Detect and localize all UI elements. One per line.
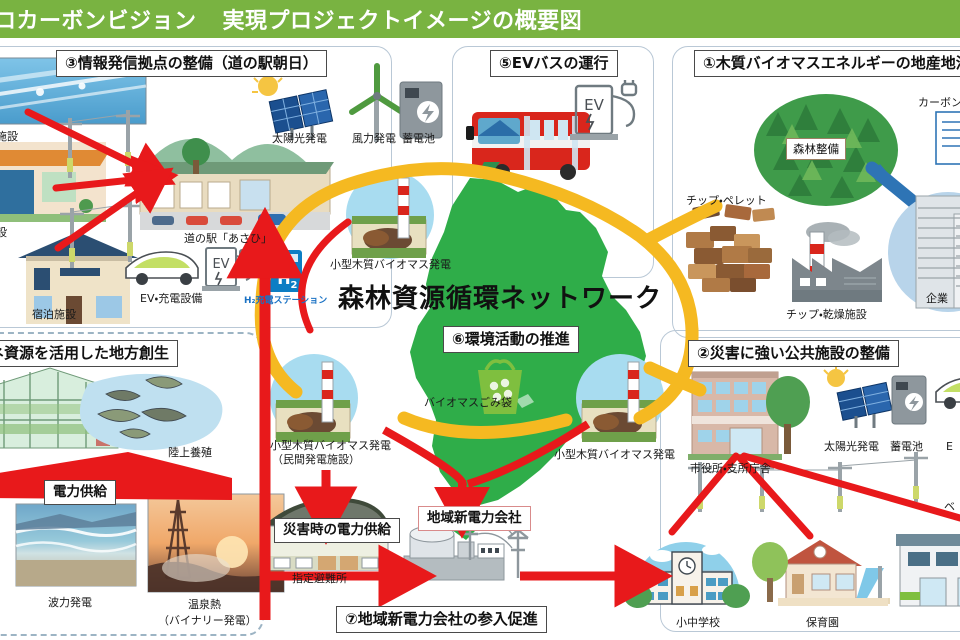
label-company: 企業 <box>926 292 948 305</box>
label-designated-shelter: 指定避難所 <box>292 572 347 585</box>
label-clinic: ベ <box>944 500 955 513</box>
label-biomass-bag: バイオマスごみ袋 <box>424 396 512 409</box>
label-chip-pellet: チップ・ペレット <box>686 194 767 207</box>
label-city-hall: 市役所・支所庁舎 <box>690 462 771 475</box>
section3-title: ③情報発信拠点の整備（道の駅朝日） <box>56 50 327 77</box>
label-biomass-plant-left: 小型木質バイオマス発電 <box>270 440 391 453</box>
section7-title: ⑦地域新電力会社の参入促進 <box>336 606 547 633</box>
section5-title: ⑤EVバスの運行 <box>490 50 618 77</box>
label-land-aquaculture: 陸上養殖 <box>168 446 212 459</box>
label-disaster-power-supply: 災害時の電力供給 <box>274 518 400 543</box>
red-flow-facilities-to-station <box>28 112 150 248</box>
label-battery-p2: 蓄電池 <box>890 440 923 453</box>
label-geothermal-sub: （バイナリー発電） <box>158 614 257 627</box>
label-ev-charger: EV・充電設備 <box>140 292 202 305</box>
label-carbon-credit: カーボン <box>918 96 960 109</box>
label-geothermal: 温泉熱 <box>188 598 221 611</box>
label-battery: 蓄電池 <box>402 132 435 145</box>
section6-title: ⑥環境活動の推進 <box>443 326 579 353</box>
section1-title: ①木質バイオマスエネルギーの地産地消 <box>694 50 960 77</box>
label-forest-maintenance: 森林整備 <box>786 138 846 160</box>
label-chip-drying-facility: チップ・乾燥施設 <box>786 308 867 321</box>
label-pool-facility: 施設 <box>0 130 18 143</box>
red-power-supply-band <box>0 452 232 500</box>
label-hot-spring-facility: 設 <box>0 226 7 239</box>
section4-title: ネ資源を活用した地方創生 <box>0 340 178 367</box>
label-wind-turbine: 風力発電 <box>352 132 396 145</box>
label-new-power-company: 地域新電力会社 <box>418 506 531 531</box>
label-solar-panel: 太陽光発電 <box>272 132 327 145</box>
red-flow-to-new-power-company <box>384 430 463 506</box>
label-ev-vehicle-p2: E <box>946 440 953 453</box>
label-power-supply: 電力供給 <box>44 480 116 505</box>
label-wave-power: 波力発電 <box>48 596 92 609</box>
label-biomass-plant-left-sub: （民間発電施設） <box>272 454 360 467</box>
infographic-canvas: ロカーボンビジョン実現プロジェクトイメージの概要図 <box>0 0 960 640</box>
label-biomass-plant-top: 小型木質バイオマス発電 <box>330 258 451 271</box>
label-solar-panel-p2: 太陽光発電 <box>824 440 879 453</box>
label-elementary-school: 小中学校 <box>676 616 720 629</box>
section2-title: ②災害に強い公共施設の整備 <box>688 340 899 367</box>
label-h2-station: H₂充電ステーション <box>244 296 327 307</box>
label-nursery-school: 保育園 <box>806 616 839 629</box>
label-lodging-facility: 宿泊施設 <box>32 308 76 321</box>
network-title: 森林資源循環ネットワーク <box>338 278 662 315</box>
label-michinoeki: 道の駅「あさひ」 <box>184 232 272 245</box>
label-biomass-plant-right: 小型木質バイオマス発電 <box>554 448 675 461</box>
